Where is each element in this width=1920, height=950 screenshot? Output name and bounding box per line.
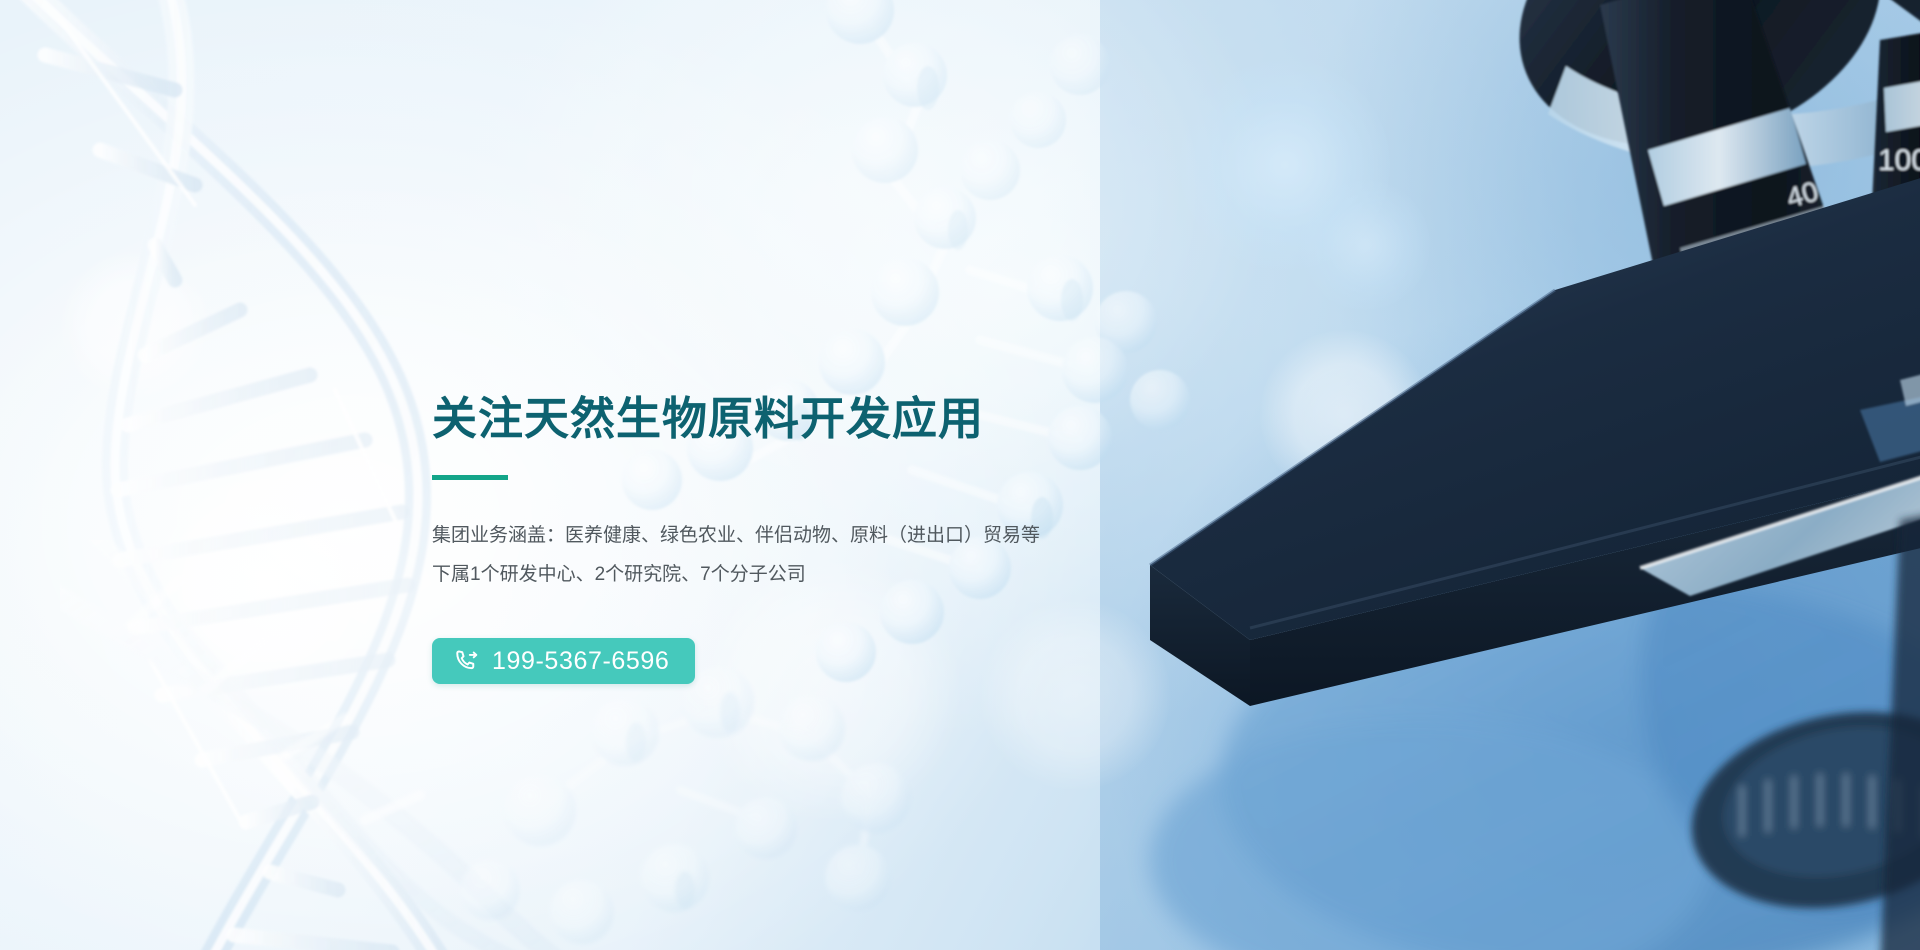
svg-text:100/1.25: 100/1.25 bbox=[1878, 144, 1920, 177]
hero-description: 集团业务涵盖：医养健康、绿色农业、伴侣动物、原料（进出口）贸易等 下属1个研发中… bbox=[432, 516, 1252, 594]
hero-content: 关注天然生物原料开发应用 集团业务涵盖：医养健康、绿色农业、伴侣动物、原料（进出… bbox=[432, 392, 1252, 684]
page-title: 关注天然生物原料开发应用 bbox=[432, 392, 1252, 445]
title-underline-rule bbox=[432, 475, 508, 480]
phone-cta-label: 199-5367-6596 bbox=[492, 647, 669, 676]
hero-banner: 40 100/1.25 160/0.17 100 bbox=[0, 0, 1920, 950]
phone-cta-button[interactable]: 199-5367-6596 bbox=[432, 638, 695, 684]
hero-description-line-2: 下属1个研发中心、2个研究院、7个分子公司 bbox=[432, 555, 1252, 594]
phone-forwarded-icon bbox=[454, 648, 480, 674]
hero-description-line-1: 集团业务涵盖：医养健康、绿色农业、伴侣动物、原料（进出口）贸易等 bbox=[432, 516, 1252, 555]
